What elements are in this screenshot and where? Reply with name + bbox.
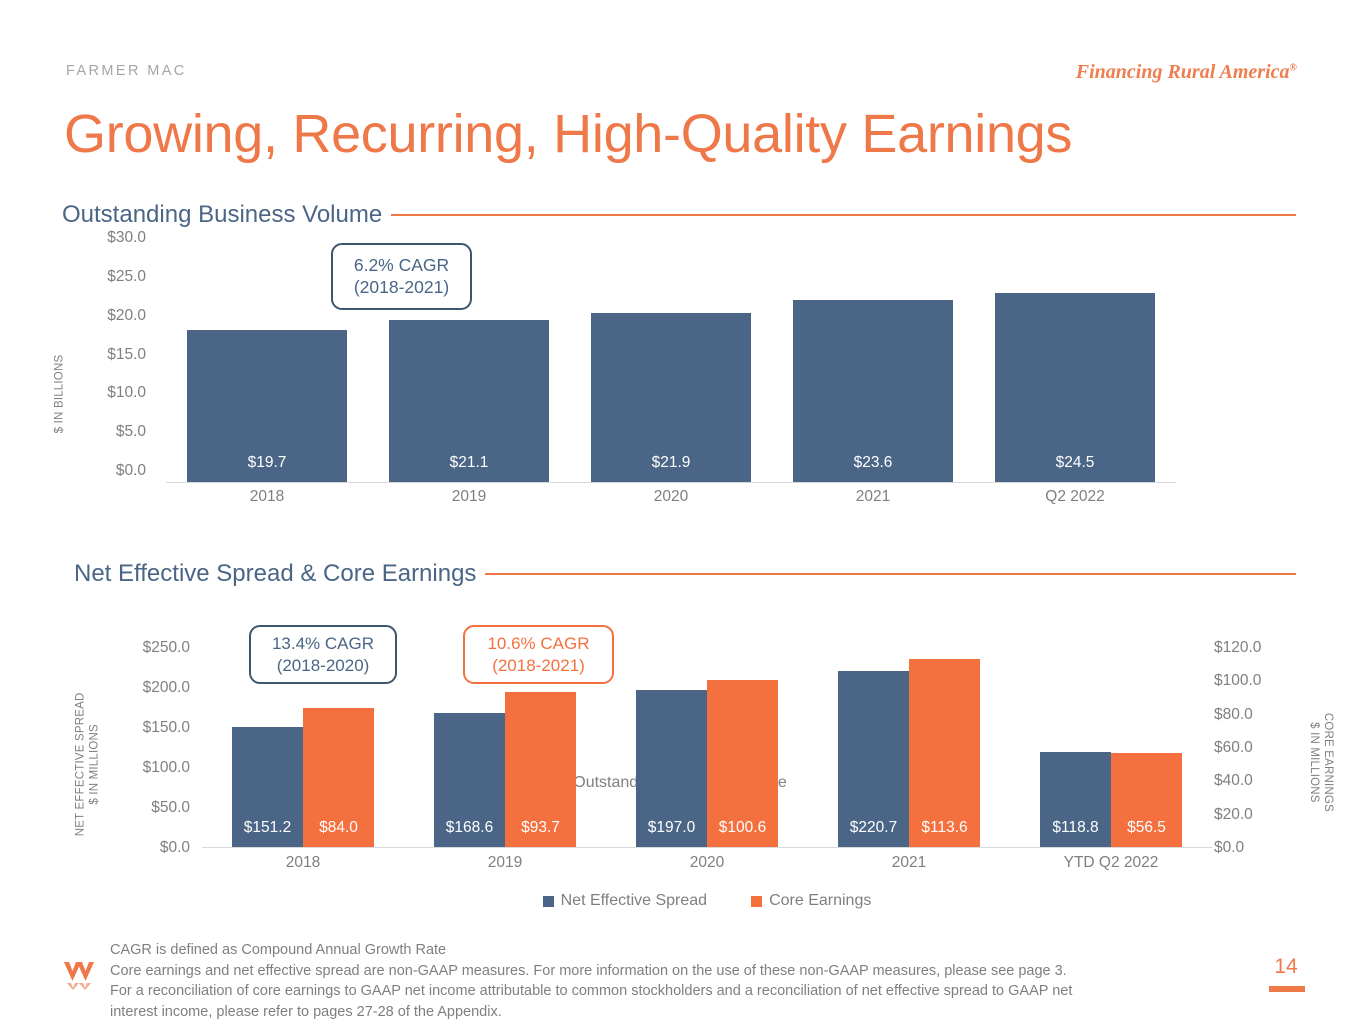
chart1-category-group: $21.9: [570, 250, 772, 482]
chart2-legend: Net Effective Spread Core Earnings: [202, 892, 1212, 910]
y2-tick: $40.0: [1214, 772, 1253, 790]
x-label: 2020: [570, 488, 772, 506]
bar-value-label: $21.9: [591, 454, 751, 472]
bar-value-label: $56.5: [1111, 819, 1182, 837]
y-tick: $15.0: [107, 346, 146, 364]
chart2-category-group: $197.0 $100.6: [606, 648, 808, 847]
y-tick: $30.0: [107, 229, 146, 247]
y2-tick: $100.0: [1214, 672, 1261, 690]
bar-core-2019[interactable]: $93.7: [505, 692, 576, 847]
x-label: 2021: [808, 854, 1010, 872]
x-label: Q2 2022: [974, 488, 1176, 506]
callout-line-1: 10.6% CAGR: [465, 633, 612, 655]
bar-value-label: $151.2: [232, 819, 303, 837]
section-divider-rule: [391, 214, 1296, 216]
x-label: 2018: [166, 488, 368, 506]
callout-cagr-net-effective-spread: 13.4% CAGR (2018-2020): [249, 625, 397, 684]
callout-line-1: 13.4% CAGR: [251, 633, 395, 655]
legend-label: Core Earnings: [769, 892, 871, 910]
chart2-x-axis-labels: 2018 2019 2020 2021 YTD Q2 2022: [202, 854, 1212, 872]
bar-value-label: $84.0: [303, 819, 374, 837]
y2-tick: $120.0: [1214, 639, 1261, 657]
legend-label: Net Effective Spread: [561, 892, 707, 910]
section-header-outstanding-business-volume: Outstanding Business Volume: [62, 201, 1296, 229]
section-divider-rule: [485, 573, 1296, 575]
chart1-x-axis-labels: 2018 2019 2020 2021 Q2 2022: [166, 488, 1176, 506]
bar-obv-2019[interactable]: $21.1: [389, 320, 549, 482]
chart2-category-group: $118.8 $56.5: [1010, 648, 1212, 847]
footnote-line-2: Core earnings and net effective spread a…: [110, 961, 1250, 982]
chart1-y-axis-ticks: $30.0 $25.0 $20.0 $15.0 $10.0 $5.0 $0.0: [62, 238, 146, 483]
y-tick: $150.0: [143, 719, 190, 737]
chart2-right-axis-ticks: $120.0 $100.0 $80.0 $60.0 $40.0 $20.0 $0…: [1214, 640, 1300, 840]
bar-obv-2020[interactable]: $21.9: [591, 313, 751, 482]
callout-line-2: (2018-2021): [465, 655, 612, 677]
registered-mark-icon: ®: [1290, 62, 1297, 73]
x-label: 2019: [404, 854, 606, 872]
page-number-underline: [1269, 986, 1305, 992]
callout-cagr-core-earnings: 10.6% CAGR (2018-2021): [463, 625, 614, 684]
footnote-line-4: interest income, please refer to pages 2…: [110, 1002, 1250, 1023]
bar-obv-2018[interactable]: $19.7: [187, 330, 347, 482]
footnote-line-3: For a reconciliation of core earnings to…: [110, 981, 1250, 1002]
y-tick: $50.0: [151, 799, 190, 817]
x-label: 2020: [606, 854, 808, 872]
y2-tick: $20.0: [1214, 806, 1253, 824]
bar-value-label: $118.8: [1040, 819, 1111, 837]
bar-value-label: $24.5: [995, 454, 1155, 472]
axis-title-line-2: $ IN MILLIONS: [1306, 713, 1320, 812]
bar-value-label: $21.1: [389, 454, 549, 472]
bar-value-label: $19.7: [187, 454, 347, 472]
legend-swatch-icon: [543, 896, 554, 907]
slide: FARMER MAC Financing Rural America® Grow…: [0, 0, 1365, 1024]
chart1-plot-area: $19.7 $21.1 $21.9 $23.6: [166, 250, 1176, 483]
y-tick: $200.0: [143, 679, 190, 697]
chart-outstanding-business-volume: $ IN BILLIONS $30.0 $25.0 $20.0 $15.0 $1…: [62, 238, 1302, 558]
bar-value-label: $93.7: [505, 819, 576, 837]
legend-swatch-icon: [751, 896, 762, 907]
chart1-category-group: $24.5: [974, 250, 1176, 482]
brand-tagline-text: Financing Rural America: [1076, 61, 1290, 83]
bar-value-label: $220.7: [838, 819, 909, 837]
bar-nes-2020[interactable]: $197.0: [636, 690, 707, 847]
callout-line-1: 6.2% CAGR: [333, 254, 470, 276]
brand-eyebrow: FARMER MAC: [66, 63, 187, 79]
bar-nes-2018[interactable]: $151.2: [232, 727, 303, 847]
bar-core-2021[interactable]: $113.6: [909, 659, 980, 847]
y-tick: $25.0: [107, 268, 146, 286]
chart1-category-group: $23.6: [772, 250, 974, 482]
callout-line-2: (2018-2020): [251, 655, 395, 677]
y-tick: $10.0: [107, 384, 146, 402]
x-label: YTD Q2 2022: [1010, 854, 1212, 872]
bar-value-label: $100.6: [707, 819, 778, 837]
chart2-left-axis-ticks: $250.0 $200.0 $150.0 $100.0 $50.0 $0.0: [98, 640, 190, 840]
y2-tick: $0.0: [1214, 839, 1244, 857]
bar-obv-2021[interactable]: $23.6: [793, 300, 953, 482]
legend-item-core-earnings[interactable]: Core Earnings: [751, 892, 871, 910]
callout-line-2: (2018-2021): [333, 276, 470, 298]
legend-item-net-effective-spread[interactable]: Net Effective Spread: [543, 892, 707, 910]
section-title: Outstanding Business Volume: [62, 201, 391, 229]
y-tick: $0.0: [116, 462, 146, 480]
farmer-mac-logo-icon: [62, 960, 96, 990]
bar-value-label: $23.6: [793, 454, 953, 472]
footnote: CAGR is defined as Compound Annual Growt…: [110, 940, 1250, 1022]
page-number: 14: [1263, 955, 1309, 979]
y-tick: $20.0: [107, 307, 146, 325]
bar-nes-ytd-q2-2022[interactable]: $118.8: [1040, 752, 1111, 847]
bar-core-ytd-q2-2022[interactable]: $56.5: [1111, 753, 1182, 847]
bar-value-label: $197.0: [636, 819, 707, 837]
y-tick: $0.0: [160, 839, 190, 857]
x-label: 2019: [368, 488, 570, 506]
section-header-net-effective-spread-core-earnings: Net Effective Spread & Core Earnings: [74, 560, 1296, 588]
bar-value-label: $113.6: [909, 819, 980, 837]
bar-core-2020[interactable]: $100.6: [707, 680, 778, 847]
y2-tick: $60.0: [1214, 739, 1253, 757]
chart2-category-group: $220.7 $113.6: [808, 648, 1010, 847]
callout-cagr-volume: 6.2% CAGR (2018-2021): [331, 243, 472, 310]
section-title: Net Effective Spread & Core Earnings: [74, 560, 485, 588]
footnote-line-1: CAGR is defined as Compound Annual Growt…: [110, 940, 1250, 961]
axis-title-line-1: NET EFFECTIVE SPREAD: [73, 693, 87, 837]
chart2-right-axis-title: CORE EARNINGS $ IN MILLIONS: [1306, 713, 1335, 812]
bar-nes-2019[interactable]: $168.6: [434, 713, 505, 847]
chart1-bars: $19.7 $21.1 $21.9 $23.6: [166, 250, 1176, 482]
bar-obv-q2-2022[interactable]: $24.5: [995, 293, 1155, 482]
bar-nes-2021[interactable]: $220.7: [838, 671, 909, 847]
y-tick: $5.0: [116, 423, 146, 441]
axis-title-line-1: CORE EARNINGS: [1320, 713, 1334, 812]
bar-value-label: $168.6: [434, 819, 505, 837]
y2-tick: $80.0: [1214, 706, 1253, 724]
page-title: Growing, Recurring, High-Quality Earning…: [64, 103, 1072, 165]
bar-core-2018[interactable]: $84.0: [303, 708, 374, 847]
brand-tagline: Financing Rural America®: [1076, 61, 1297, 84]
y-tick: $250.0: [143, 639, 190, 657]
x-label: 2018: [202, 854, 404, 872]
x-label: 2021: [772, 488, 974, 506]
y-tick: $100.0: [143, 759, 190, 777]
